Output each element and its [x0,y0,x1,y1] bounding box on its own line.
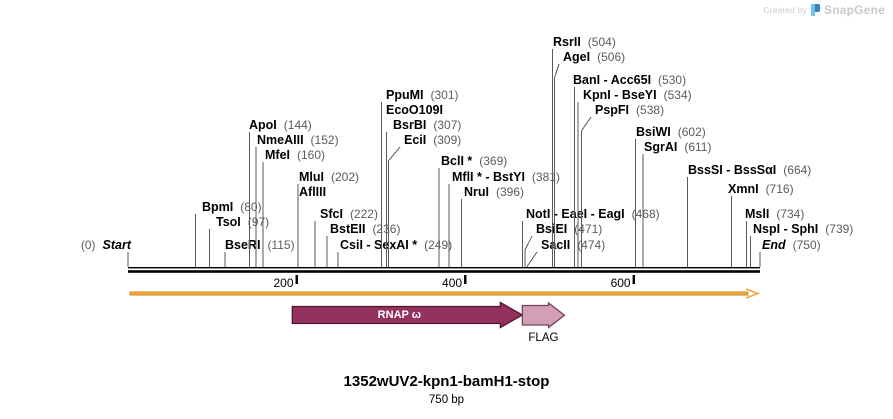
leader-line [581,117,591,267]
dna-strand-top [128,267,760,268]
map-title: 1352wUV2-kpn1-bamH1-stop [0,373,893,390]
axis-tick-mark [296,275,298,284]
axis-tick-label: 200 [274,276,294,290]
leader-line [554,64,559,267]
leader-line [527,252,537,267]
axis-tick-mark [633,275,635,284]
axis-tick-label: 400 [442,276,462,290]
snapgene-linear-map: Created by SnapGene (0)StartBpmI(80)TsoI… [0,0,893,419]
axis-tick-label: 600 [611,276,631,290]
leader-line [388,147,400,267]
map-graphics-layer [0,0,893,419]
axis-tick-mark [464,275,466,284]
leader-line [525,236,532,267]
feature-label: FLAG [528,332,558,344]
map-length-label: 750 bp [0,394,893,406]
dna-strand-bottom [128,270,760,273]
orientation-arrow-shaft [130,292,748,295]
feature-arrow[interactable] [522,303,564,328]
feature-label: RNAP ω [378,309,421,321]
